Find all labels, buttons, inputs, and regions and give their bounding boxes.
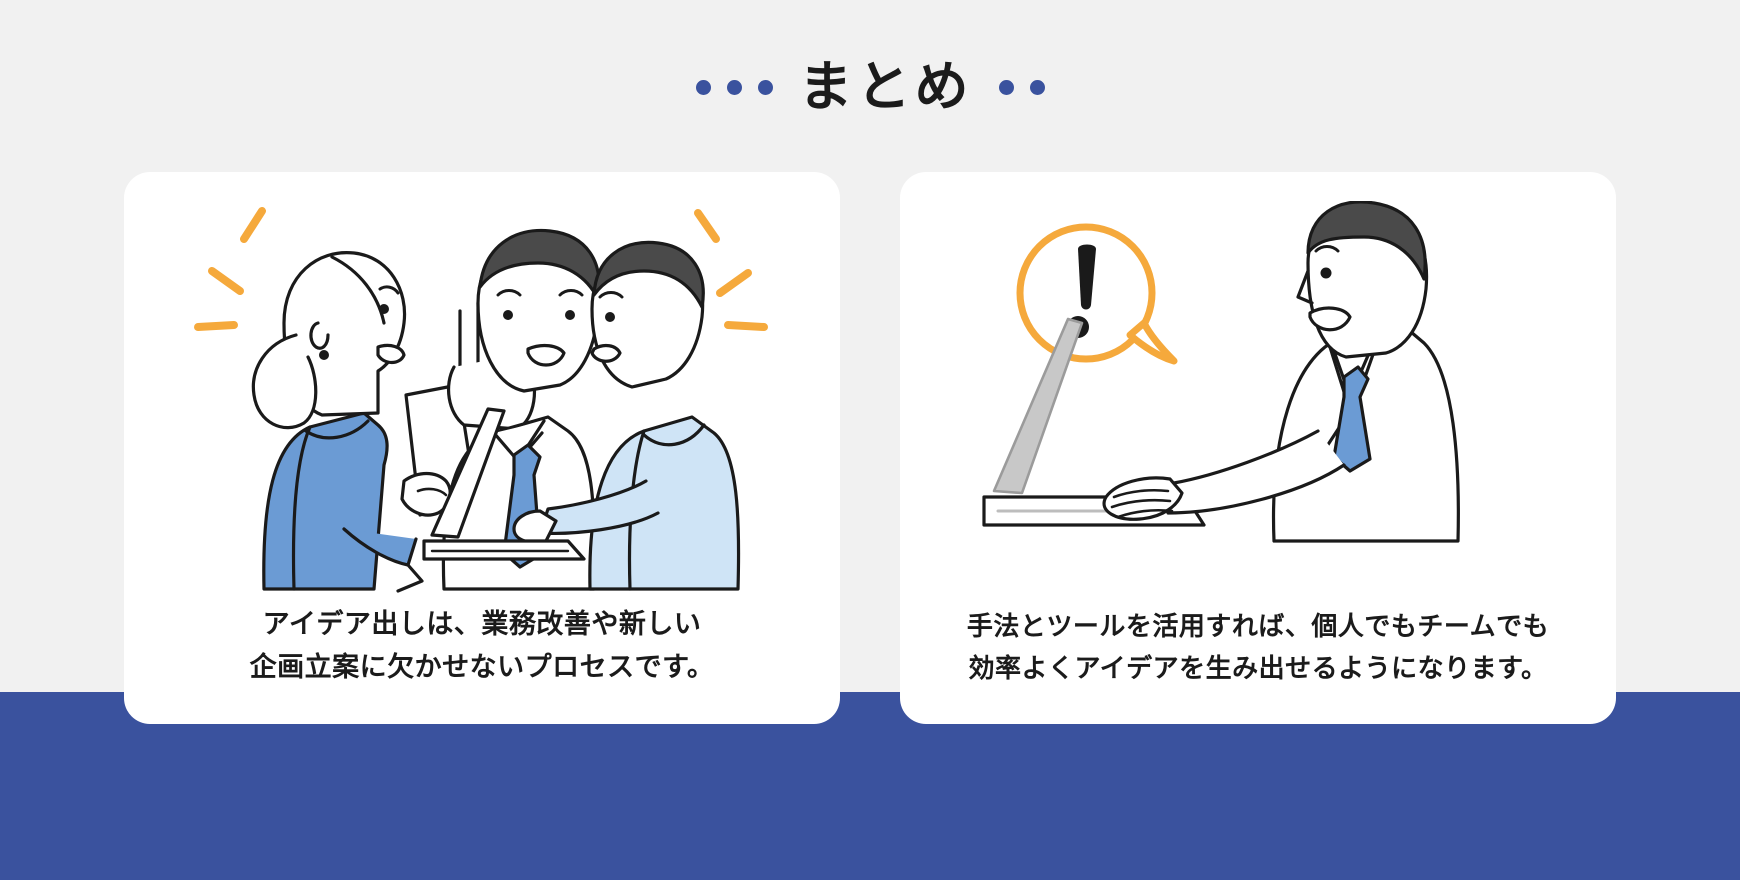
sparkle-lines-right xyxy=(698,213,764,327)
summary-cards-row: アイデア出しは、業務改善や新しい 企画立案に欠かせないプロセスです。 xyxy=(124,172,1616,724)
laptop-man-illustration xyxy=(918,196,1598,606)
caption-line: アイデア出しは、業務改善や新しい xyxy=(250,603,715,647)
caption-line: 効率よくアイデアを生み出せるようになります。 xyxy=(967,648,1549,690)
caption-line: 企画立案に欠かせないプロセスです。 xyxy=(250,646,715,690)
man-figure xyxy=(1104,202,1458,541)
page-title-row: まとめ xyxy=(0,52,1740,122)
sparkle-lines-left xyxy=(198,211,262,327)
summary-card-left: アイデア出しは、業務改善や新しい 企画立案に欠かせないプロセスです。 xyxy=(124,172,840,724)
decorative-dot-icon xyxy=(696,80,711,95)
title-dots-left xyxy=(696,80,773,95)
decorative-dot-icon xyxy=(1030,80,1045,95)
decorative-dot-icon xyxy=(999,80,1014,95)
brainstorming-illustration xyxy=(142,196,822,603)
card-left-caption: アイデア出しは、業務改善や新しい 企画立案に欠かせないプロセスです。 xyxy=(250,603,715,694)
title-dots-right xyxy=(999,80,1045,95)
idea-speech-bubble-icon xyxy=(1020,227,1174,361)
summary-card-right: 手法とツールを活用すれば、個人でもチームでも 効率よくアイデアを生み出せるように… xyxy=(900,172,1616,724)
page-title: まとめ xyxy=(799,60,973,114)
caption-line: 手法とツールを活用すれば、個人でもチームでも xyxy=(967,606,1549,648)
decorative-dot-icon xyxy=(727,80,742,95)
card-right-caption: 手法とツールを活用すれば、個人でもチームでも 効率よくアイデアを生み出せるように… xyxy=(967,606,1549,694)
decorative-dot-icon xyxy=(758,80,773,95)
